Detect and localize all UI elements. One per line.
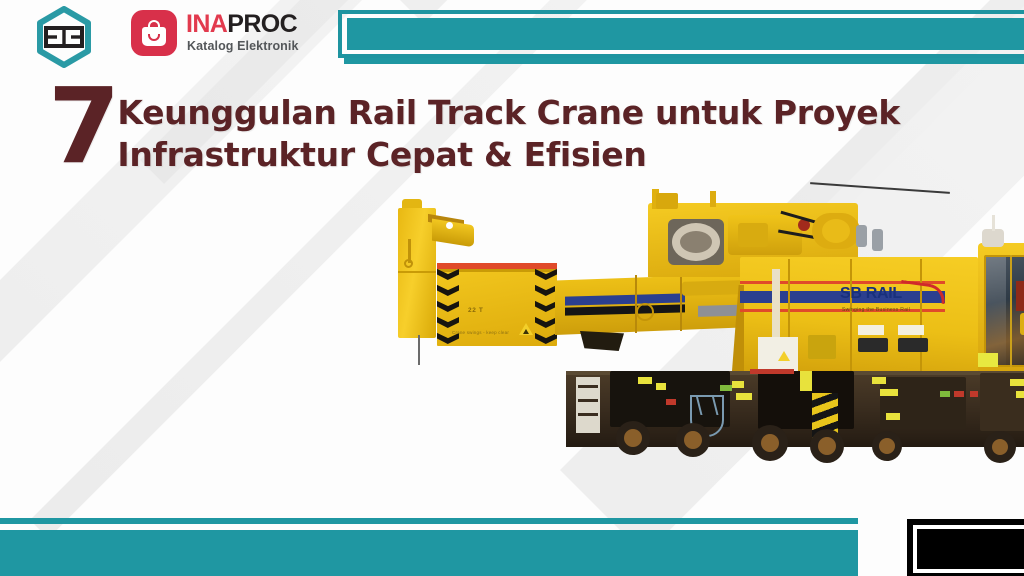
sb-rail-brand-text: SB RAIL: [840, 285, 902, 303]
rail-track-crane-photo: 22 T Crane swings - keep clear: [380, 185, 1024, 485]
crane-capacity-label: 22 T: [468, 307, 483, 314]
inaproc-word-ina: INA: [186, 10, 227, 38]
shopping-bag-icon: [131, 10, 177, 56]
banner-canvas: INAPROC Katalog Elektronik 7 Keunggulan …: [0, 0, 1024, 576]
crane-jib-head: [398, 208, 436, 338]
inaproc-word-proc: PROC: [227, 10, 297, 38]
bottom-accent-bar: [0, 530, 858, 576]
inaproc-logo[interactable]: INAPROC Katalog Elektronik: [131, 8, 316, 58]
inaproc-subtitle: Katalog Elektronik: [187, 39, 299, 53]
crane-warning-label: Crane swings - keep clear: [452, 330, 509, 335]
sb-rail-tagline: Swinging the Business Rail: [842, 307, 910, 313]
bottom-accent-line: [0, 518, 858, 524]
bottom-right-black-frame: [907, 519, 1024, 576]
header-logos: INAPROC Katalog Elektronik: [0, 0, 1024, 80]
headline-block: 7 Keunggulan Rail Track Crane untuk Proy…: [48, 82, 978, 182]
headline-number: 7: [48, 82, 115, 171]
dha-letter-frame-icon: [33, 6, 95, 68]
inaproc-wordmark: INAPROC: [186, 12, 297, 37]
chevron-warning-right: [535, 265, 557, 346]
hazard-triangle-icon: [778, 351, 790, 361]
page-title: Keunggulan Rail Track Crane untuk Proyek…: [117, 82, 947, 175]
dha-logo[interactable]: [33, 6, 95, 68]
bottom-right-black-frame-inner: [913, 525, 1024, 573]
